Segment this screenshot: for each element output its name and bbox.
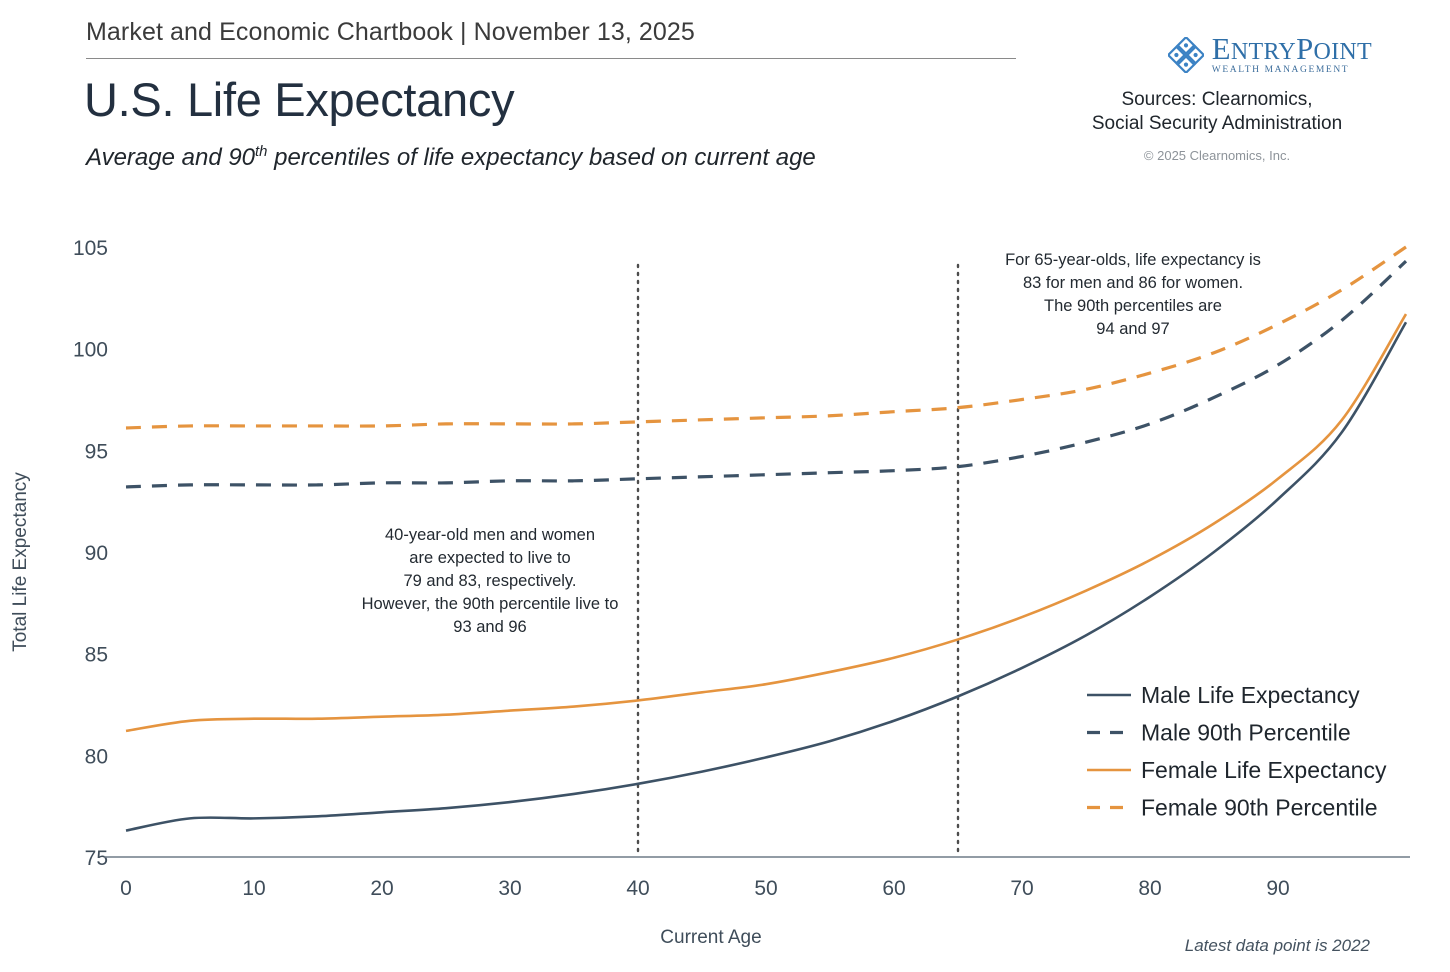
life-expectancy-line-chart: 7580859095100105 0102030405060708090 40-… — [0, 195, 1450, 972]
page-subtitle-superscript: th — [255, 144, 267, 160]
legend-label: Male 90th Percentile — [1141, 720, 1351, 746]
chartbook-header-line: Market and Economic Chartbook | November… — [86, 18, 695, 47]
copyright-text: © 2025 Clearnomics, Inc. — [1062, 148, 1372, 163]
brand-block: ENTRYPOINT WEALTH MANAGEMENT Sources: Cl… — [1062, 36, 1372, 163]
logo-name: ENTRYPOINT — [1212, 39, 1372, 65]
page-title: U.S. Life Expectancy — [84, 72, 514, 127]
annotation-age-40-line-4: However, the 90th percentile live to — [362, 595, 619, 613]
page-subtitle-pre: Average and 90 — [86, 144, 255, 171]
x-tick-80: 80 — [1138, 877, 1161, 900]
page-subtitle: Average and 90th percentiles of life exp… — [86, 144, 816, 172]
logo: ENTRYPOINT WEALTH MANAGEMENT — [1062, 36, 1372, 74]
sources-text: Sources: Clearnomics, Social Security Ad… — [1062, 88, 1372, 137]
legend-item-female-90th-percentile[interactable]: Female 90th Percentile — [1087, 795, 1378, 821]
x-tick-0: 0 — [120, 877, 132, 900]
chart-area: 7580859095100105 0102030405060708090 40-… — [0, 195, 1450, 972]
x-tick-10: 10 — [242, 877, 265, 900]
chart-annotations: 40-year-old men and womenare expected to… — [362, 251, 1261, 636]
y-tick-100: 100 — [73, 339, 108, 362]
legend-item-male-life-expectancy[interactable]: Male Life Expectancy — [1087, 682, 1360, 708]
logo-wordmark: ENTRYPOINT WEALTH MANAGEMENT — [1212, 34, 1372, 75]
annotation-age-40-line-1: 40-year-old men and women — [385, 526, 595, 544]
page-subtitle-post: percentiles of life expectancy based on … — [267, 144, 815, 171]
annotation-age-65-line-4: 94 and 97 — [1096, 320, 1169, 338]
x-tick-20: 20 — [370, 877, 393, 900]
footnote-latest-data-point: Latest data point is 2022 — [1185, 936, 1370, 956]
header-divider — [86, 58, 1016, 59]
y-tick-75: 75 — [85, 847, 108, 870]
y-axis-title: Total Life Expectancy — [10, 472, 31, 652]
y-axis-tick-labels: 7580859095100105 — [73, 237, 108, 870]
x-axis-tick-labels: 0102030405060708090 — [120, 877, 1290, 900]
y-tick-95: 95 — [85, 440, 108, 463]
reference-lines — [638, 265, 958, 857]
logo-name-ntry: NTRY — [1231, 39, 1296, 65]
legend-item-male-90th-percentile[interactable]: Male 90th Percentile — [1087, 720, 1351, 746]
x-tick-60: 60 — [882, 877, 905, 900]
chart-legend[interactable]: Male Life ExpectancyMale 90th Percentile… — [1087, 682, 1387, 821]
series-line-male-90th-percentile — [126, 261, 1406, 487]
legend-item-female-life-expectancy[interactable]: Female Life Expectancy — [1087, 757, 1387, 783]
x-axis-title: Current Age — [660, 927, 761, 948]
annotation-age-40: 40-year-old men and womenare expected to… — [362, 526, 619, 636]
annotation-age-65-line-1: For 65-year-olds, life expectancy is — [1005, 251, 1261, 269]
annotation-age-40-line-5: 93 and 96 — [453, 618, 526, 636]
y-tick-80: 80 — [85, 745, 108, 768]
annotation-age-40-line-3: 79 and 83, respectively. — [403, 572, 576, 590]
series-line-female-life-expectancy — [126, 314, 1406, 731]
annotation-age-65-line-2: 83 for men and 86 for women. — [1023, 274, 1243, 292]
x-tick-70: 70 — [1010, 877, 1033, 900]
x-tick-50: 50 — [754, 877, 777, 900]
x-tick-90: 90 — [1266, 877, 1289, 900]
annotation-age-65: For 65-year-olds, life expectancy is83 f… — [1005, 251, 1261, 338]
y-tick-105: 105 — [73, 237, 108, 260]
logo-tagline: WEALTH MANAGEMENT — [1212, 66, 1372, 76]
logo-name-oint: OINT — [1313, 39, 1372, 65]
legend-label: Male Life Expectancy — [1141, 682, 1360, 708]
logo-name-e: E — [1212, 32, 1231, 66]
y-tick-85: 85 — [85, 644, 108, 667]
x-tick-40: 40 — [626, 877, 649, 900]
page-header: Market and Economic Chartbook | November… — [0, 0, 1450, 195]
x-tick-30: 30 — [498, 877, 521, 900]
y-tick-90: 90 — [85, 542, 108, 565]
diamond-cluster-logo-icon — [1168, 37, 1204, 73]
annotation-age-65-line-3: The 90th percentiles are — [1044, 297, 1222, 315]
legend-label: Female Life Expectancy — [1141, 757, 1387, 783]
logo-name-p: P — [1296, 32, 1313, 66]
annotation-age-40-line-2: are expected to live to — [409, 549, 570, 567]
legend-label: Female 90th Percentile — [1141, 795, 1378, 821]
